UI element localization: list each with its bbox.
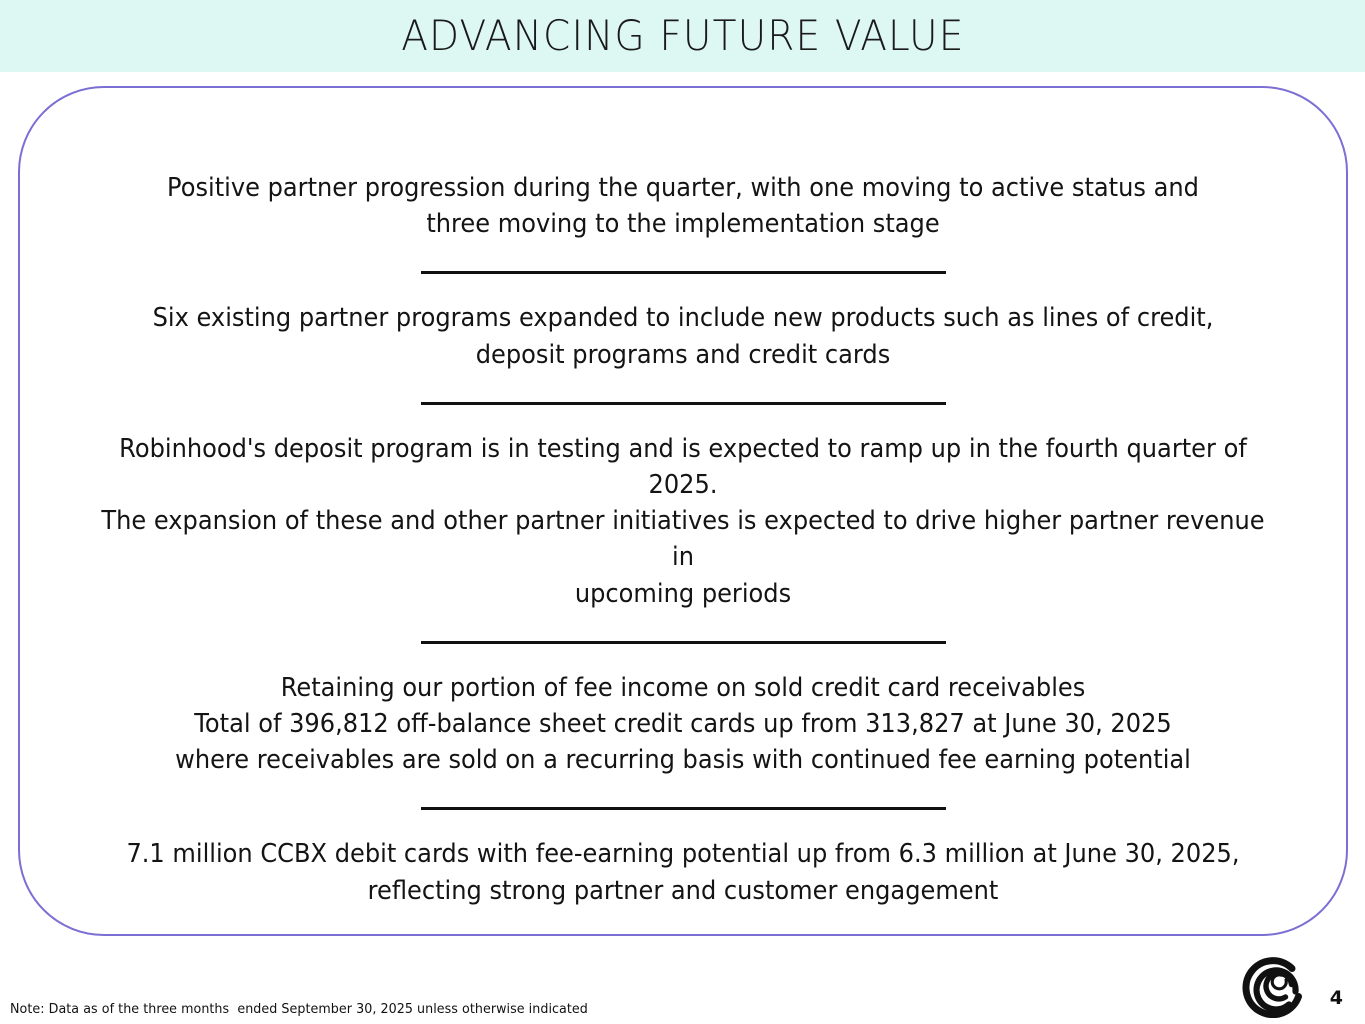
page-number: 4: [1330, 989, 1343, 1008]
divider-2: [421, 402, 946, 405]
coastal-spiral-logo-icon: [1241, 956, 1305, 1018]
statement-program-expansion: Six existing partner programs expanded t…: [92, 300, 1273, 372]
statement-robinhood-deposit: Robinhood's deposit program is in testin…: [92, 431, 1273, 612]
slide-header: ADVANCING FUTURE VALUE: [0, 0, 1365, 72]
statement-partner-progression: Positive partner progression during the …: [92, 170, 1273, 242]
divider-4: [421, 807, 946, 810]
statement-credit-card-receivables: Retaining our portion of fee income on s…: [92, 670, 1273, 779]
slide: ADVANCING FUTURE VALUE Positive partner …: [0, 0, 1365, 1024]
content-card-inner: Positive partner progression during the …: [20, 88, 1346, 934]
footer-note: Note: Data as of the three months ended …: [10, 1001, 588, 1017]
page-title: ADVANCING FUTURE VALUE: [401, 15, 964, 57]
statement-ccbx-debit-cards: 7.1 million CCBX debit cards with fee-ea…: [92, 836, 1273, 908]
divider-1: [421, 271, 946, 274]
content-card: Positive partner progression during the …: [18, 86, 1348, 936]
divider-3: [421, 641, 946, 644]
